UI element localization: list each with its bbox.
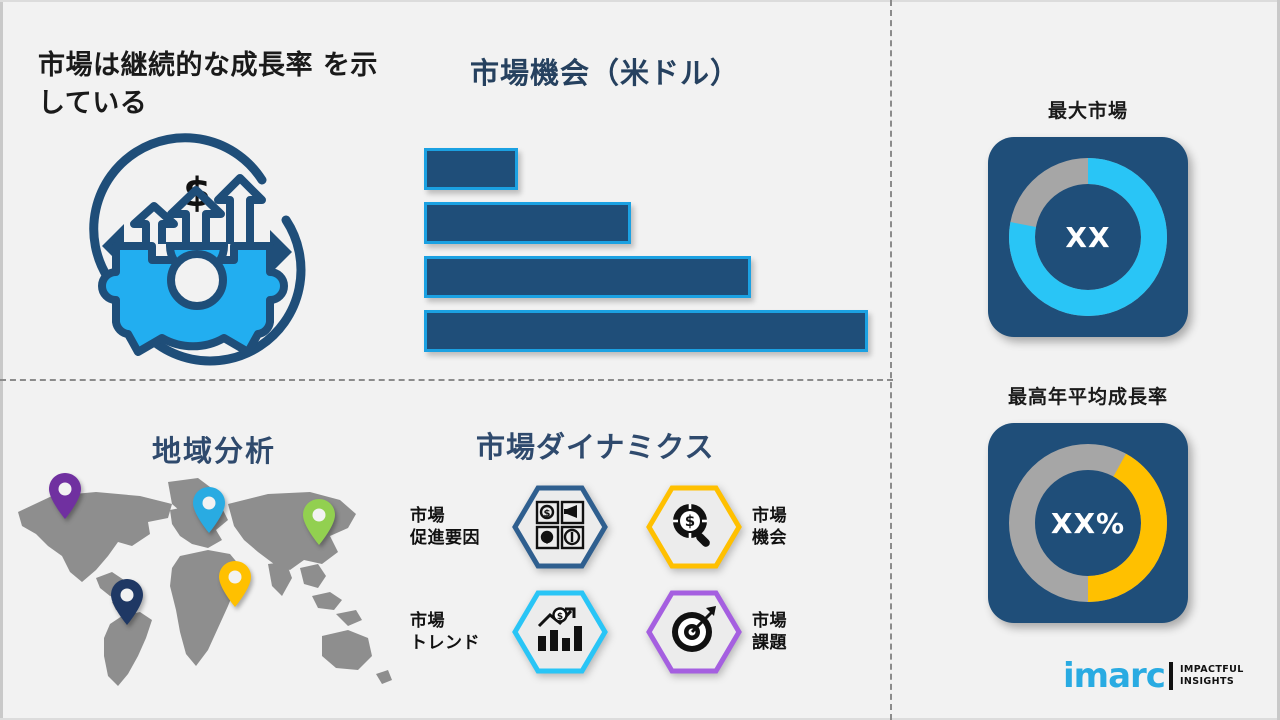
donut-card-highest-cagr: XX% [988, 423, 1188, 623]
logo-wordmark: imarc [1063, 656, 1165, 696]
pin-south-america [110, 578, 144, 630]
horizontal-dashed-divider [0, 379, 893, 381]
pin-north-america [48, 472, 82, 524]
donut-card-largest-market: XX [988, 137, 1188, 337]
dynamics-item-label: 市場 機会 [752, 505, 844, 549]
puzzle-pieces-icon: $ [512, 485, 608, 569]
vertical-dashed-divider [890, 0, 892, 720]
logo-tagline: IMPACTFUL INSIGHTS [1180, 664, 1244, 688]
bar-2 [424, 202, 631, 244]
donut-value-highest-cagr: XX% [988, 423, 1188, 623]
dynamics-item-label: 市場 課題 [752, 610, 844, 654]
dynamics-item-1[interactable]: 市場 促進要因$ [410, 485, 608, 569]
pin-europe [192, 486, 226, 538]
frame-edge-top [0, 0, 1280, 2]
bar-1 [424, 148, 518, 190]
target-dart-icon [646, 590, 742, 674]
logo-separator-bar [1169, 662, 1173, 690]
dynamics-item-2[interactable]: $市場 機会 [646, 485, 844, 569]
svg-text:$: $ [544, 509, 551, 520]
growth-panel-title: 市場は継続的な成長率 を示している [38, 47, 388, 124]
svg-text:$: $ [557, 612, 563, 622]
magnifier-dollar-icon: $ [646, 485, 742, 569]
svg-text:$: $ [685, 512, 695, 530]
bar-3 [424, 256, 751, 298]
slide-canvas: 市場は継続的な成長率 を示している $ 市場機会（米ドル） 地域分析 [0, 0, 1280, 720]
pin-east-asia [302, 498, 336, 550]
donut-title-highest-cagr: 最高年平均成長率 [958, 382, 1218, 409]
imarc-logo: imarc IMPACTFUL INSIGHTS [1063, 659, 1244, 693]
bar-chart-growth-icon: $ [512, 590, 608, 674]
dynamics-panel-title: 市場ダイナミクス [476, 424, 715, 466]
dynamics-item-label: 市場 トレンド [410, 610, 502, 654]
donut-title-largest-market: 最大市場 [958, 96, 1218, 123]
donut-value-largest-market: XX [988, 137, 1188, 337]
market-opportunity-bar-chart [424, 148, 874, 348]
opportunity-panel-title: 市場機会（米ドル） [470, 50, 740, 92]
dynamics-item-4[interactable]: 市場 課題 [646, 590, 844, 674]
growth-gear-arrows-icon: $ [72, 128, 322, 368]
dynamics-item-label: 市場 促進要因 [410, 505, 502, 549]
dynamics-item-3[interactable]: 市場 トレンド$ [410, 590, 608, 674]
pin-middle-east [218, 560, 252, 612]
bar-4 [424, 310, 868, 352]
